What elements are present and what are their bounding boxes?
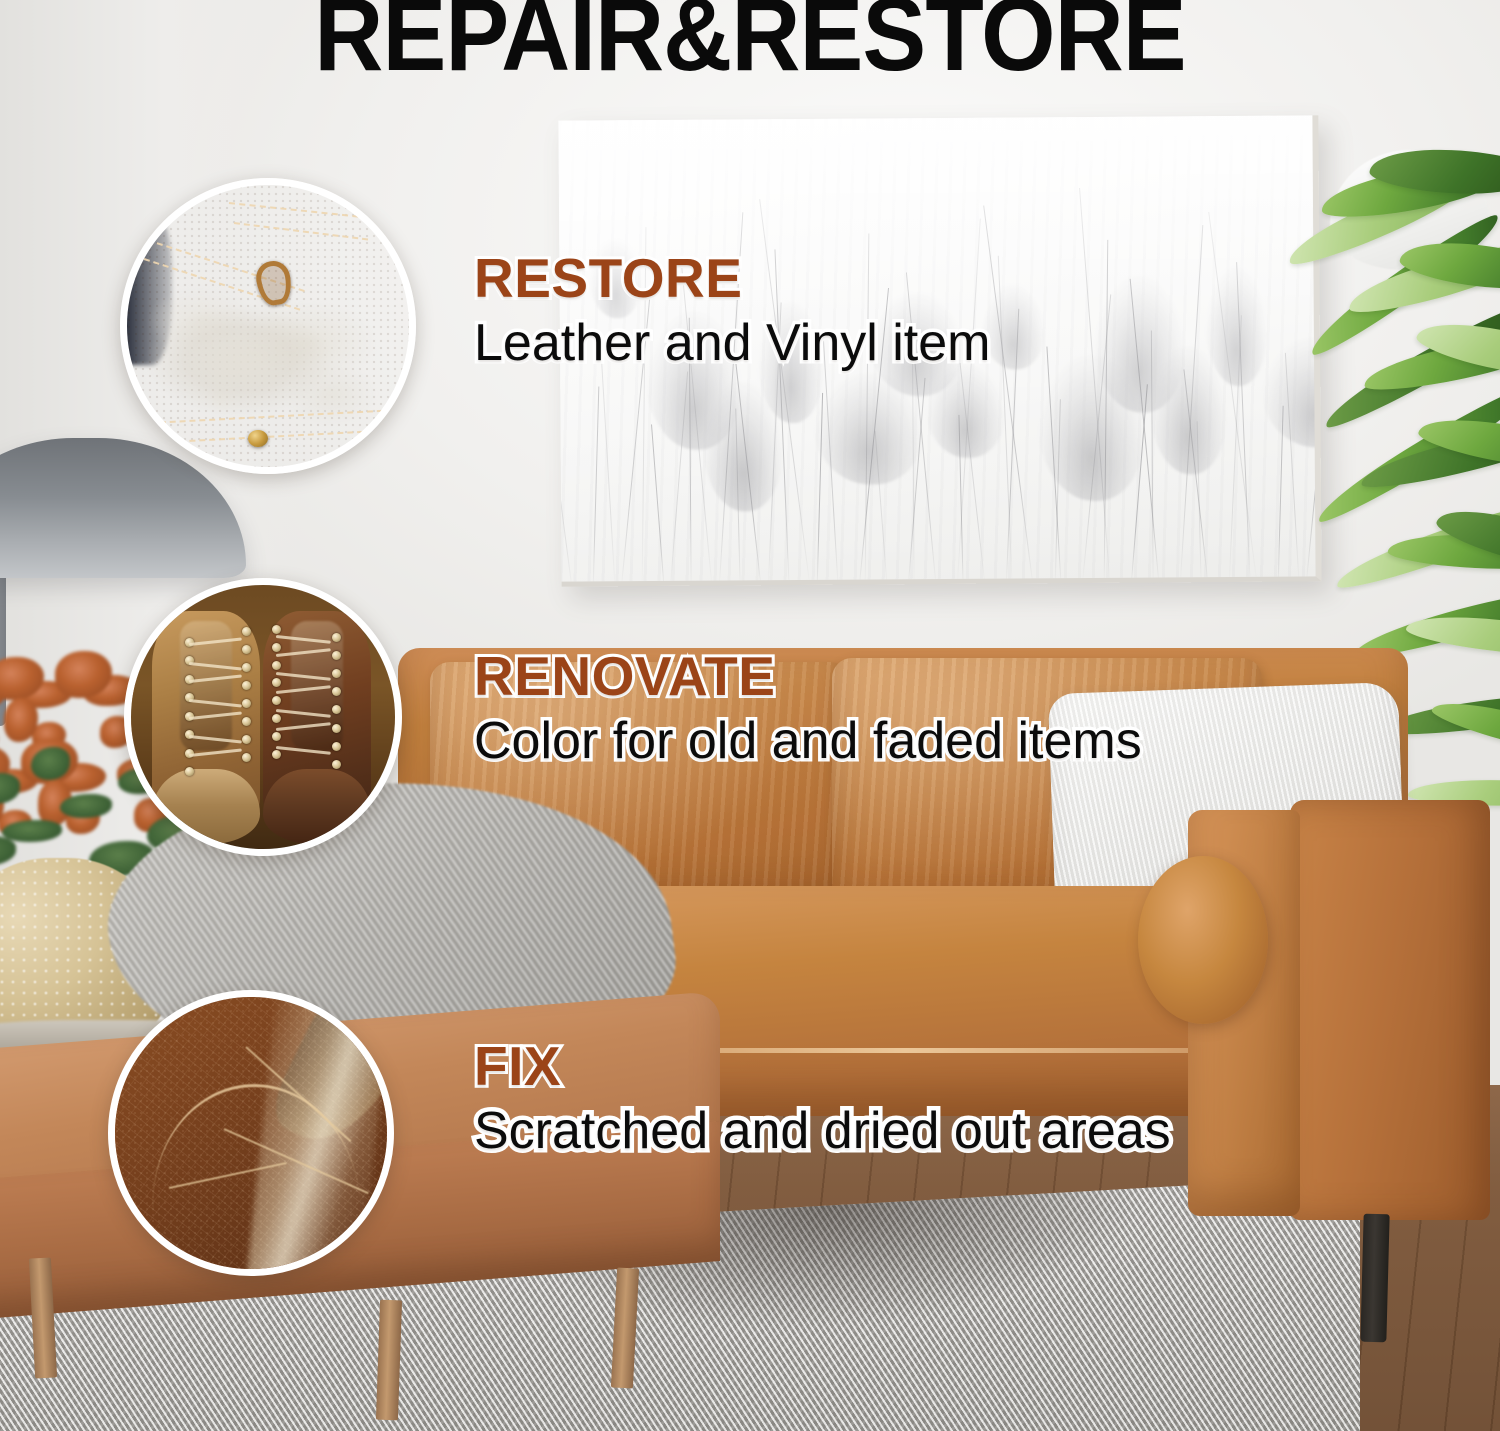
inset-fix-scratched-leather [108,990,394,1276]
ottoman-leg-mid [376,1300,402,1421]
sofa-arm-back [1290,800,1490,1220]
feature-subtitle-restore: Leather and Vinyl item [474,316,990,371]
bolster-cushion [1138,856,1268,1024]
sofa-leg [1360,1214,1389,1343]
inset-renovate-worn-boots [124,578,402,856]
feature-block-renovate: RENOVATE Color for old and faded items [474,648,1142,769]
feature-kicker-restore: RESTORE [474,250,990,306]
feature-subtitle-renovate: Color for old and faded items [474,714,1142,769]
feature-kicker-fix: FIX [474,1038,1171,1094]
feature-block-fix: FIX Scratched and dried out areas [474,1038,1171,1159]
feature-subtitle-fix: Scratched and dried out areas [474,1104,1171,1159]
feature-kicker-renovate: RENOVATE [474,648,1142,704]
page-title: REPAIR&RESTORE [60,0,1440,87]
inset-restore-leather-bag [120,178,416,474]
feature-block-restore: RESTORE Leather and Vinyl item [474,250,990,371]
product-feature-poster: REPAIR&RESTORE RESTORE Leather and Vinyl… [0,0,1500,1431]
